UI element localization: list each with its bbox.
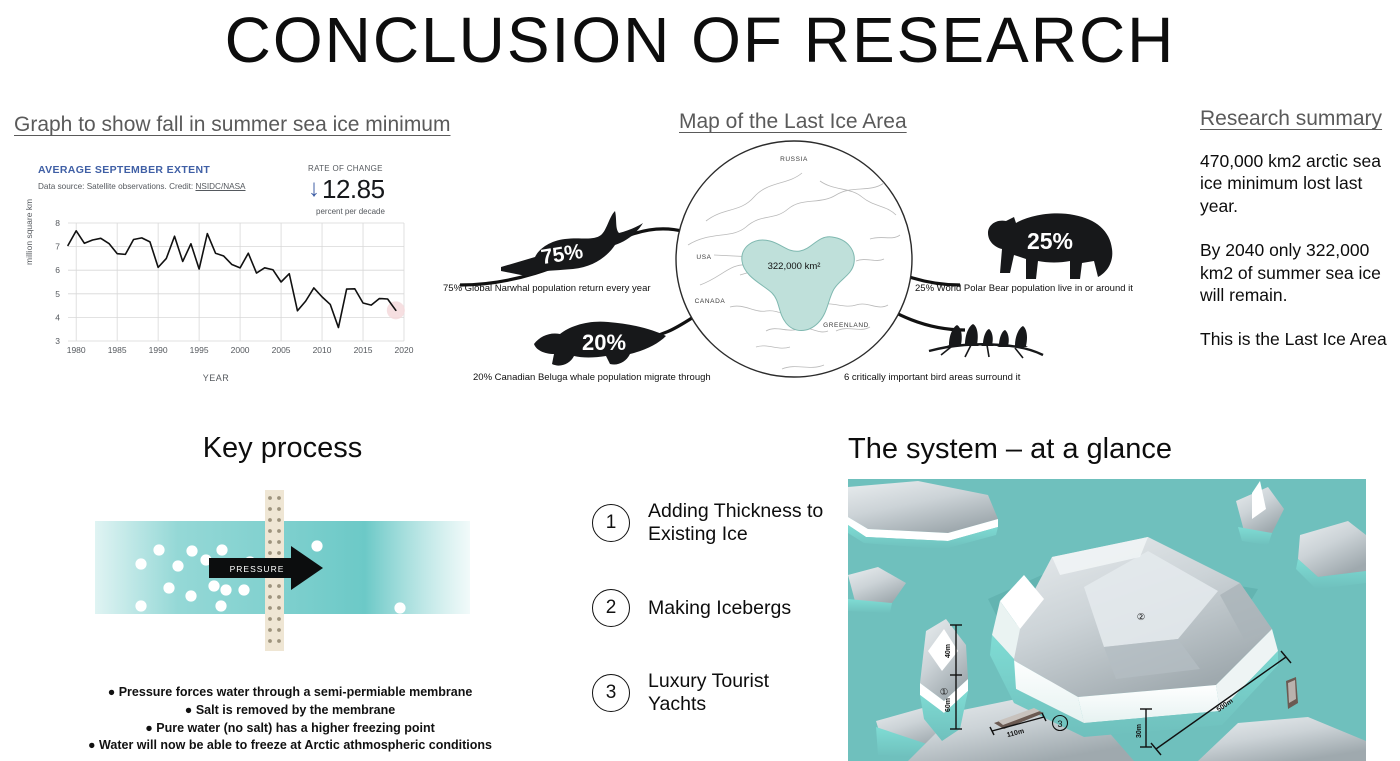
polar-bear-caption: 25% World Polar Bear population live in …	[915, 283, 1133, 294]
svg-text:2020: 2020	[395, 345, 414, 355]
beluga-icon: 20%	[530, 310, 672, 372]
rate-of-change-value: 12.85	[322, 176, 385, 202]
chart-title: AVERAGE SEPTEMBER EXTENT	[38, 164, 210, 176]
graph-section-heading: Graph to show fall in summer sea ice min…	[14, 113, 450, 137]
step-label-3: Luxury Tourist Yachts	[648, 670, 832, 716]
system-3d-render: ② ①	[848, 479, 1366, 761]
map-section-heading: Map of the Last Ice Area	[679, 110, 907, 134]
step-label-2: Making Icebergs	[648, 597, 791, 620]
summary-section-heading: Research summary	[1200, 107, 1382, 131]
svg-text:1995: 1995	[190, 345, 209, 355]
chart-x-axis-label: YEAR	[16, 373, 416, 383]
map-label-usa: USA	[696, 254, 711, 261]
dimension-label-60m: 60m	[945, 698, 952, 712]
svg-text:2010: 2010	[313, 345, 332, 355]
page-title: CONCLUSION OF RESEARCH	[0, 8, 1400, 72]
svg-text:2005: 2005	[272, 345, 291, 355]
map-label-russia: RUSSIA	[780, 156, 808, 163]
step-number-3: 3	[592, 674, 630, 712]
summary-paragraph: 470,000 km2 arctic sea ice minimum lost …	[1200, 150, 1395, 217]
system-steps-list: 1 Adding Thickness to Existing Ice 2 Mak…	[592, 500, 832, 716]
membrane-diagram: PRESSURE	[95, 488, 470, 653]
chart-source-text: Data source: Satellite observations. Cre…	[38, 182, 195, 191]
map-label-greenland: GREENLAND	[823, 322, 869, 329]
rate-of-change-value-row: ↓ 12.85	[308, 176, 385, 202]
step-item-2[interactable]: 2 Making Icebergs	[592, 589, 832, 627]
render-svg: ② ①	[848, 479, 1366, 761]
sea-ice-chart-panel: AVERAGE SEPTEMBER EXTENT Data source: Sa…	[16, 155, 416, 405]
svg-text:1980: 1980	[67, 345, 86, 355]
key-process-bullets: ● Pressure forces water through a semi-p…	[30, 684, 550, 755]
birds-icon	[927, 315, 1045, 367]
svg-text:5: 5	[55, 289, 60, 299]
birds-caption: 6 critically important bird areas surrou…	[844, 372, 1020, 383]
rate-of-change-label: RATE OF CHANGE	[308, 164, 383, 173]
polar-bear-badge: 25%	[1027, 228, 1073, 254]
research-summary-text: 470,000 km2 arctic sea ice minimum lost …	[1200, 150, 1395, 351]
render-marker-1-label: ①	[940, 687, 949, 698]
narwhal-caption: 75% Global Narwhal population return eve…	[443, 283, 651, 294]
dimension-label-30m: 30m	[1136, 724, 1143, 738]
step-item-1[interactable]: 1 Adding Thickness to Existing Ice	[592, 500, 832, 546]
svg-text:1990: 1990	[149, 345, 168, 355]
step-item-3[interactable]: 3 Luxury Tourist Yachts	[592, 670, 832, 716]
bullet-item: ● Pressure forces water through a semi-p…	[30, 684, 550, 702]
step-number-2: 2	[592, 589, 630, 627]
svg-text:2000: 2000	[231, 345, 250, 355]
chart-source-link[interactable]: NSIDC/NASA	[195, 182, 245, 191]
svg-text:2015: 2015	[354, 345, 373, 355]
svg-text:7: 7	[55, 242, 60, 252]
down-arrow-icon: ↓	[308, 177, 320, 201]
bullet-item: ● Water will now be able to freeze at Ar…	[30, 737, 550, 755]
beluga-caption: 20% Canadian Beluga whale population mig…	[473, 372, 711, 383]
bullet-item: ● Salt is removed by the membrane	[30, 702, 550, 720]
render-marker-3-label: 3	[1057, 719, 1062, 729]
svg-text:3: 3	[55, 336, 60, 346]
system-section-title: The system – at a glance	[848, 433, 1172, 466]
beluga-badge: 20%	[582, 330, 626, 355]
chart-plot-area: 3456781980198519901995200020052010201520…	[16, 217, 416, 367]
last-ice-area-map: 322,000 km² RUSSIA USA CANADA GREENLAND …	[440, 135, 1160, 390]
svg-text:4: 4	[55, 312, 60, 322]
svg-text:1985: 1985	[108, 345, 127, 355]
step-label-1: Adding Thickness to Existing Ice	[648, 500, 832, 546]
slide-canvas: CONCLUSION OF RESEARCH Graph to show fal…	[0, 0, 1400, 761]
svg-text:6: 6	[55, 265, 60, 275]
polar-bear-icon: 25%	[974, 205, 1126, 287]
pressure-label: PRESSURE	[230, 564, 285, 574]
svg-text:8: 8	[55, 218, 60, 228]
lia-area-label: 322,000 km²	[768, 261, 821, 272]
chart-source-credit: Data source: Satellite observations. Cre…	[38, 182, 246, 191]
bullet-item: ● Pure water (no salt) has a higher free…	[30, 720, 550, 738]
key-process-title: Key process	[0, 432, 565, 465]
arctic-globe: 322,000 km² RUSSIA USA CANADA GREENLAND	[670, 135, 918, 383]
render-marker-2-label: ②	[1137, 612, 1146, 623]
rate-of-change-unit: percent per decade	[316, 207, 385, 216]
summary-paragraph: This is the Last Ice Area	[1200, 328, 1395, 350]
summary-paragraph: By 2040 only 322,000 km2 of summer sea i…	[1200, 239, 1395, 306]
chart-svg: 3456781980198519901995200020052010201520…	[16, 217, 416, 367]
dimension-label-40m: 40m	[945, 644, 952, 658]
step-number-1: 1	[592, 504, 630, 542]
map-label-canada: CANADA	[695, 298, 726, 305]
narwhal-icon: 75%	[495, 205, 645, 283]
